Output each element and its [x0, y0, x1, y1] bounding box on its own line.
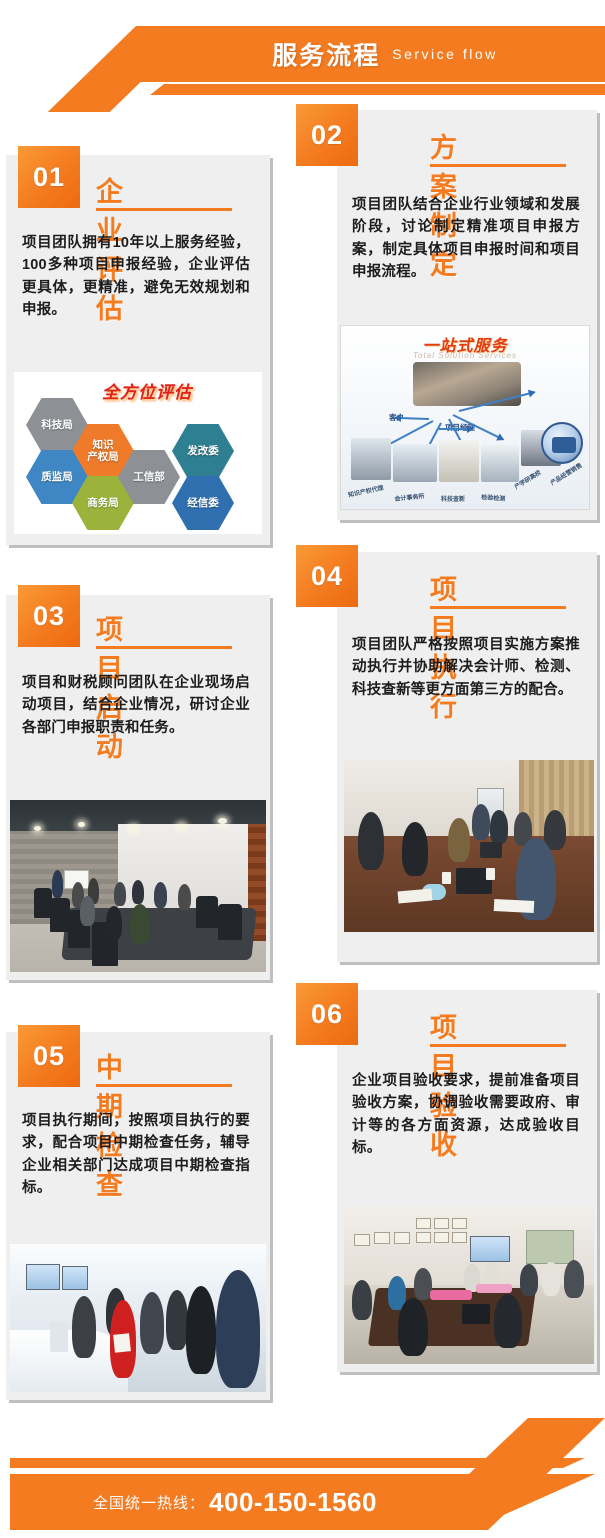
card-04-description: 项目团队严格按照项目实施方案推动执行并协助解决会计师、检测、科技查新等更方面第三…: [352, 634, 580, 701]
photo-projection-screen: [470, 1236, 510, 1262]
node-tech-search: [439, 440, 479, 482]
photo-person: [132, 880, 144, 904]
card-06-badge: 06: [296, 983, 358, 1045]
card-06-photo-acceptance-meeting: [344, 1206, 594, 1364]
photo-certificate: [452, 1232, 467, 1243]
branch-label-ip: 知识产权代理: [347, 483, 384, 499]
footer-hotline-group: 全国统一热线： 400-150-1560: [10, 1474, 460, 1530]
photo-certificate: [374, 1232, 390, 1244]
card-02-figure-one-stop-service: 一站式服务 Total Solution Services 客户 项目经理: [340, 325, 590, 510]
one-stop-service-canvas: 一站式服务 Total Solution Services 客户 项目经理: [341, 326, 589, 509]
photo-certificate: [394, 1232, 410, 1244]
photo-person: [166, 1290, 188, 1350]
photo-person-foreground: [216, 1270, 260, 1388]
photo-certificate: [416, 1232, 431, 1243]
card-04-badge: 04: [296, 545, 358, 607]
photo-cup: [486, 868, 495, 880]
photo-chair: [196, 896, 218, 928]
photo-person-foreground: [494, 1294, 522, 1348]
photo-person-foreground: [398, 1298, 428, 1356]
photo-light: [178, 824, 185, 829]
photo-light: [78, 822, 85, 827]
photo-person: [520, 1264, 538, 1296]
photo-display-screen: [26, 1264, 60, 1290]
hotline-label: 全国统一热线：: [93, 1492, 205, 1513]
arrow-to-customer: [395, 417, 429, 420]
photo-person: [402, 822, 428, 876]
photo-scene: [10, 1244, 266, 1392]
branch-label-inspection: 检验检测: [481, 492, 506, 503]
photo-person: [186, 1286, 216, 1374]
hex-label: 商务局: [87, 497, 119, 509]
service-flow-infographic: 服务流程 Service flow 01 企业评估 项目团队拥有10年以上服务经…: [0, 0, 605, 1538]
hex-label: 发改委: [187, 445, 219, 457]
photo-certificate: [434, 1218, 449, 1229]
node-ip-agency: [351, 438, 391, 480]
photo-person: [564, 1260, 584, 1298]
card-01-badge: 01: [18, 146, 80, 208]
hexagon-chart-title: 全方位评估: [102, 378, 192, 403]
photo-person: [80, 896, 95, 926]
hex-label: 经信委: [187, 497, 219, 509]
card-03-description: 项目和财税顾问团队在企业现场启动项目，结合企业情况，研讨企业各部门申报职责和任务…: [22, 672, 250, 739]
card-01-title-rule: [96, 208, 232, 211]
page-subtitle: Service flow: [392, 46, 497, 62]
card-05-badge: 05: [18, 1025, 80, 1087]
photo-person: [542, 1262, 560, 1296]
photo-light: [130, 826, 137, 831]
card-05-photo-showroom-visit: [10, 1244, 266, 1392]
photo-laptop: [480, 842, 502, 858]
photo-person: [130, 904, 150, 944]
photo-chair: [218, 904, 242, 940]
page-title: 服务流程: [272, 36, 380, 72]
node-certification-seal: [541, 422, 583, 464]
card-03-badge: 03: [18, 585, 80, 647]
photo-flowers: [476, 1284, 512, 1293]
card-04-title-rule: [430, 606, 566, 609]
photo-chair: [50, 898, 70, 932]
hex-node-jingxin: 经信委: [172, 476, 234, 530]
branch-label-tech-search: 科技查新: [441, 494, 465, 503]
card-02-title-rule: [430, 164, 566, 167]
card-06-description: 企业项目验收要求，提前准备项目验收方案，协调验收需要政府、审计等的各方面资源，达…: [352, 1070, 580, 1160]
hex-label: 科技局: [41, 419, 73, 431]
hex-label: 质监局: [41, 471, 73, 483]
card-04-photo-working-meeting: [344, 760, 594, 932]
photo-person: [106, 906, 122, 940]
hex-node-fagai: 发改委: [172, 424, 234, 478]
photo-person: [178, 884, 191, 910]
photo-person: [352, 1280, 372, 1320]
hex-label: 工信部: [133, 471, 165, 483]
card-05-title-rule: [96, 1084, 232, 1087]
card-03-photo-conference-room: [10, 800, 266, 972]
card-02-description: 项目团队结合企业行业领域和发展阶段，讨论制定精准项目申报方案，制定具体项目申报时…: [352, 194, 580, 284]
photo-person: [358, 812, 384, 870]
card-02-badge: 02: [296, 104, 358, 166]
photo-certificate: [434, 1232, 449, 1243]
photo-person: [154, 882, 167, 908]
photo-scene: [10, 800, 266, 972]
node-inspection: [481, 444, 519, 482]
card-03-title-rule: [96, 646, 232, 649]
hotline-number[interactable]: 400-150-1560: [209, 1487, 377, 1518]
photo-product: [50, 1322, 68, 1352]
photo-light: [34, 826, 41, 831]
photo-greenboard: [526, 1230, 574, 1264]
photo-certificate: [354, 1234, 370, 1246]
photo-papers: [494, 899, 535, 913]
photo-cup: [442, 872, 451, 884]
photo-display-screen: [62, 1266, 88, 1290]
page-header: 服务流程 Service flow: [0, 0, 605, 112]
card-01-description: 项目团队拥有10年以上服务经验，100多种项目申报经验，企业评估更具体，更精准，…: [22, 232, 250, 322]
photo-person: [140, 1292, 164, 1354]
page-footer: 全国统一热线： 400-150-1560: [0, 1418, 605, 1538]
card-05-description: 项目执行期间，按照项目执行的要求，配合项目中期检查任务，辅导企业相关部门达成项目…: [22, 1110, 250, 1200]
card-06-title-rule: [430, 1044, 566, 1047]
photo-scene: [344, 1206, 594, 1364]
photo-certificate: [416, 1218, 431, 1229]
photo-person: [114, 882, 126, 906]
photo-light: [218, 818, 227, 824]
header-stripe: [150, 84, 605, 95]
photo-person: [72, 1296, 96, 1358]
one-stop-service-subtitle: Total Solution Services: [341, 351, 589, 360]
photo-laptop: [462, 1304, 490, 1324]
node-accounting: [393, 444, 437, 482]
photo-flowers: [430, 1290, 472, 1300]
photo-scene: [344, 760, 594, 932]
header-title-group: 服务流程 Service flow: [150, 26, 605, 82]
photo-document: [113, 1333, 131, 1353]
photo-person: [544, 810, 566, 850]
photo-person: [52, 870, 63, 898]
photo-person: [490, 810, 508, 844]
photo-person: [472, 804, 490, 840]
branch-label-accounting: 会计事务所: [394, 491, 425, 503]
photo-person: [448, 818, 470, 862]
photo-certificate: [452, 1218, 467, 1229]
card-01-figure-hexagon-chart: 全方位评估 科技局 知识 产权局 质监局 商务局 工信部 发改委 经信委: [14, 372, 262, 534]
hex-label: 知识 产权局: [87, 439, 119, 463]
